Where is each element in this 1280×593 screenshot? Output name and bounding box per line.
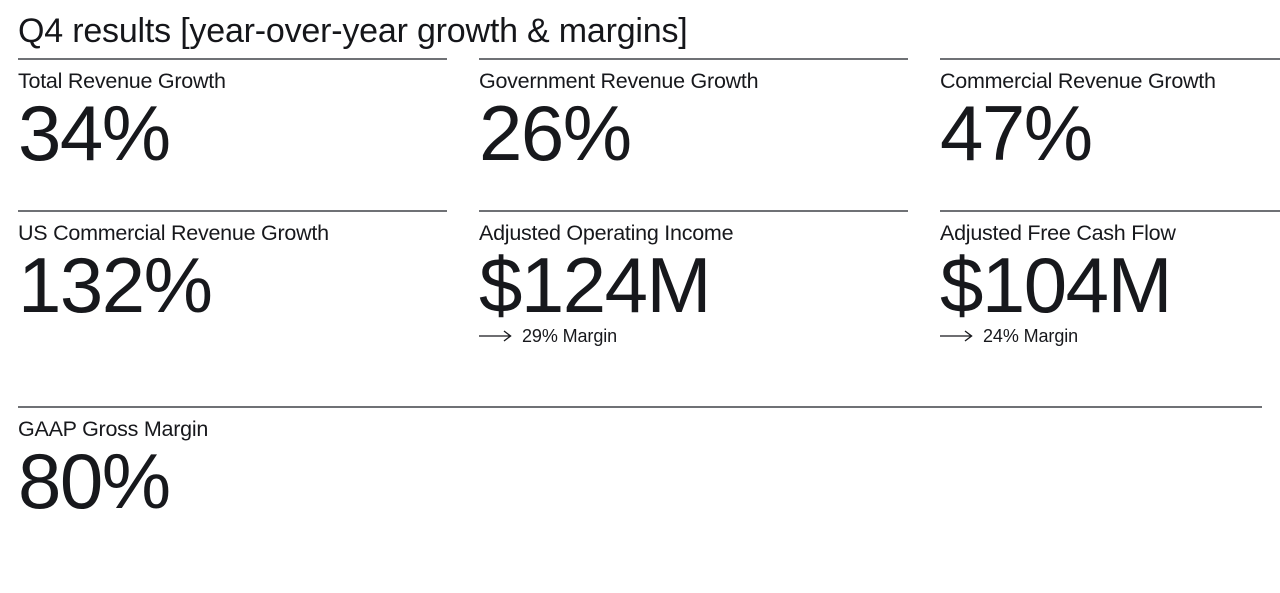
divider — [18, 406, 1262, 408]
metric-value: $104M — [940, 248, 1280, 322]
metrics-row-two: US Commercial Revenue Growth 132% Adjust… — [18, 200, 1262, 396]
metric-subnote: 24% Margin — [940, 326, 1280, 347]
metric-value: $124M — [479, 248, 908, 322]
metric-value: 34% — [18, 96, 447, 170]
divider — [18, 58, 447, 60]
metric-card-adjusted-free-cash-flow: Adjusted Free Cash Flow $104M 24% Margin — [940, 200, 1280, 396]
metric-label: GAAP Gross Margin — [18, 417, 1262, 442]
metric-card-gaap-gross-margin: GAAP Gross Margin 80% — [18, 396, 1262, 518]
metric-value: 26% — [479, 96, 908, 170]
divider — [18, 210, 447, 212]
divider — [940, 210, 1280, 212]
metric-card-adjusted-operating-income: Adjusted Operating Income $124M 29% Marg… — [479, 200, 908, 396]
arrow-right-icon — [479, 330, 513, 342]
divider — [479, 58, 908, 60]
metric-card-government-revenue-growth: Government Revenue Growth 26% — [479, 48, 908, 200]
metric-value: 47% — [940, 96, 1280, 170]
metric-value: 132% — [18, 248, 447, 322]
divider — [940, 58, 1280, 60]
divider — [479, 210, 908, 212]
metric-card-commercial-revenue-growth: Commercial Revenue Growth 47% — [940, 48, 1280, 200]
metric-subnote-text: 29% Margin — [522, 326, 617, 347]
metric-subnote-text: 24% Margin — [983, 326, 1078, 347]
results-board: Q4 results [year-over-year growth & marg… — [0, 0, 1280, 593]
metric-card-total-revenue-growth: Total Revenue Growth 34% — [18, 48, 447, 200]
metric-value: 80% — [18, 444, 1262, 518]
metric-subnote: 29% Margin — [479, 326, 908, 347]
metric-card-us-commercial-revenue-growth: US Commercial Revenue Growth 132% — [18, 200, 447, 396]
arrow-right-icon — [940, 330, 974, 342]
metrics-row-one: Total Revenue Growth 34% Government Reve… — [18, 48, 1262, 200]
page-title: Q4 results [year-over-year growth & marg… — [18, 0, 1262, 48]
